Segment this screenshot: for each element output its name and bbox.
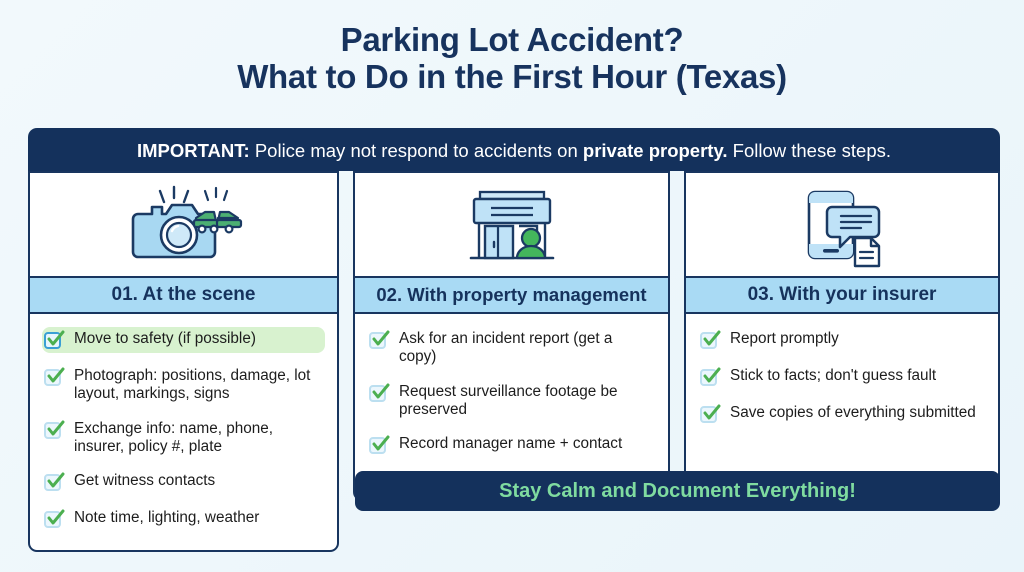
phone-message-document-icon (686, 173, 998, 276)
check-icon (700, 330, 721, 351)
important-banner: IMPORTANT: Police may not respond to acc… (28, 128, 1000, 171)
check-icon (44, 509, 65, 530)
column-property-management: 02. With property management Ask for an … (353, 171, 670, 501)
list-item[interactable]: Stick to facts; don't guess fault (698, 364, 986, 390)
list-item-label: Request surveillance footage be preserve… (399, 382, 652, 420)
list-item[interactable]: Record manager name + contact (367, 432, 656, 458)
list-item-label: Stick to facts; don't guess fault (730, 366, 936, 385)
list-item-label: Move to safety (if possible) (74, 329, 256, 348)
check-icon (44, 420, 65, 441)
list-item[interactable]: Ask for an incident report (get a copy) (367, 327, 656, 369)
list-item-label: Exchange info: name, phone, insurer, pol… (74, 419, 321, 457)
column-header-3: 03. With your insurer (686, 276, 998, 314)
check-icon (44, 330, 65, 351)
list-item[interactable]: Exchange info: name, phone, insurer, pol… (42, 417, 325, 459)
list-item-label: Save copies of everything submitted (730, 403, 976, 422)
list-item[interactable]: Photograph: positions, damage, lot layou… (42, 364, 325, 406)
list-item[interactable]: Request surveillance footage be preserve… (367, 380, 656, 422)
check-icon (369, 330, 390, 351)
title-line-2: What to Do in the First Hour (Texas) (0, 59, 1024, 96)
list-item-label: Get witness contacts (74, 471, 215, 490)
list-item-label: Report promptly (730, 329, 839, 348)
important-label: IMPORTANT: (137, 140, 250, 161)
camera-collision-icon (30, 173, 337, 276)
list-item-label: Photograph: positions, damage, lot layou… (74, 366, 321, 404)
check-icon (369, 435, 390, 456)
storefront-person-icon (355, 173, 668, 276)
list-item-label: Record manager name + contact (399, 434, 622, 453)
check-icon (700, 367, 721, 388)
list-item[interactable]: Save copies of everything submitted (698, 401, 986, 427)
check-icon (369, 383, 390, 404)
banner-text-before: Police may not respond to accidents on (250, 140, 583, 161)
page-title: Parking Lot Accident? What to Do in the … (0, 0, 1024, 96)
cta-label: Stay Calm and Document Everything! (499, 480, 856, 503)
infographic-frame: IMPORTANT: Police may not respond to acc… (28, 128, 1000, 552)
column-at-the-scene: 01. At the scene Move to safety (if poss… (28, 171, 339, 552)
checklist-at-the-scene: Move to safety (if possible) Photograph:… (30, 314, 337, 552)
banner-text-after: Follow these steps. (728, 140, 892, 161)
list-item[interactable]: Report promptly (698, 327, 986, 353)
list-item-label: Ask for an incident report (get a copy) (399, 329, 652, 367)
check-icon (44, 367, 65, 388)
cta-banner: Stay Calm and Document Everything! (355, 471, 1000, 511)
column-header-1: 01. At the scene (30, 276, 337, 314)
banner-emphasis: private property. (583, 140, 728, 161)
column-header-2: 02. With property management (355, 276, 668, 314)
column-insurer: 03. With your insurer Report promptly St… (684, 171, 1000, 501)
list-item-label: Note time, lighting, weather (74, 508, 259, 527)
list-item[interactable]: Get witness contacts (42, 469, 325, 495)
check-icon (700, 404, 721, 425)
title-line-1: Parking Lot Accident? (0, 22, 1024, 59)
check-icon (44, 472, 65, 493)
list-item[interactable]: Move to safety (if possible) (42, 327, 325, 353)
list-item[interactable]: Note time, lighting, weather (42, 506, 325, 532)
